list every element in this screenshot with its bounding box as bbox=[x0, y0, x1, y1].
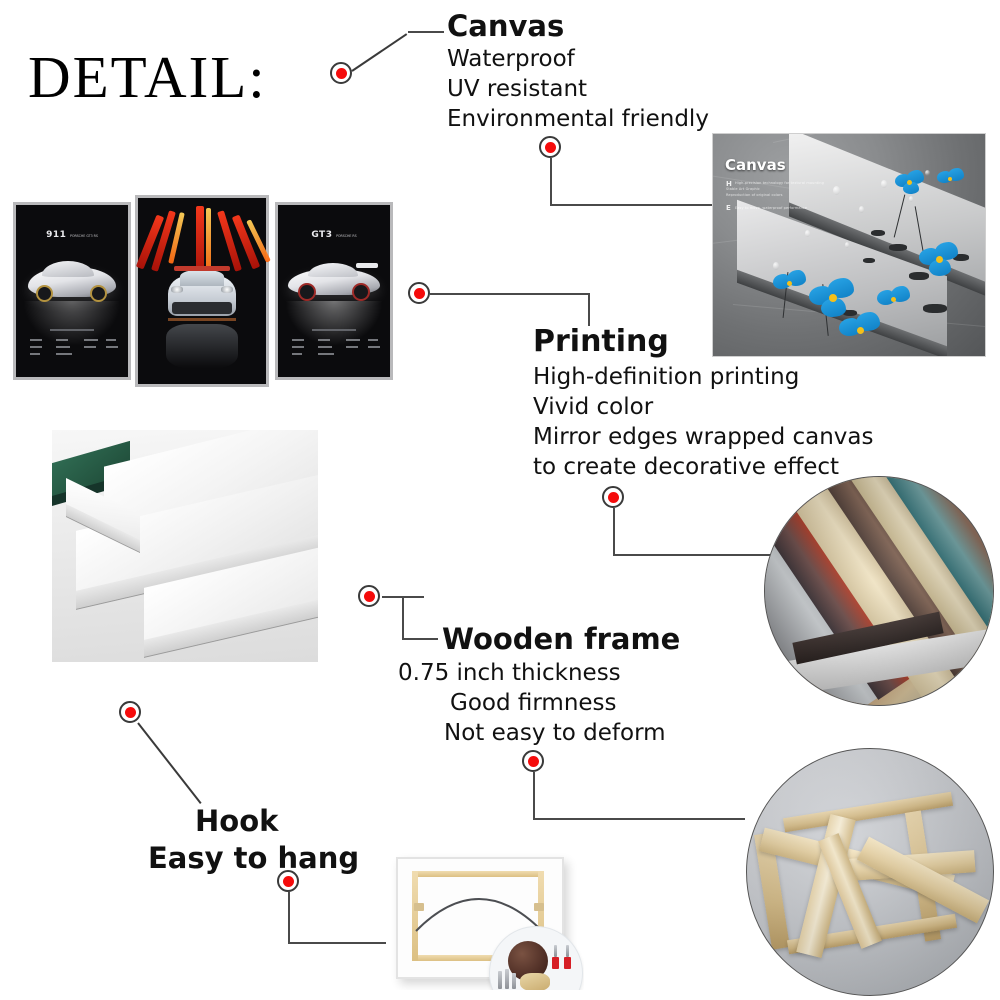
hook-text-block: Hook Easy to hang bbox=[148, 803, 359, 877]
connector-canvasphoto-vertical bbox=[550, 158, 552, 206]
connector-woodphoto-horizontal bbox=[533, 818, 745, 820]
marker-canvas[interactable] bbox=[330, 62, 352, 84]
hook-heading: Hook bbox=[195, 803, 359, 840]
wooden-frame-line-1: 0.75 inch thickness bbox=[398, 658, 680, 688]
connector-canvas-diagonal bbox=[351, 33, 407, 72]
connector-hook-diagonal bbox=[137, 722, 201, 804]
marker-wood-photo[interactable] bbox=[522, 750, 544, 772]
canvas-heading: Canvas bbox=[447, 8, 709, 44]
canvas-text-block: Canvas Waterproof UV resistant Environme… bbox=[447, 8, 709, 134]
poster-panel-3: GT3 PORSCHE RS bbox=[278, 205, 390, 377]
connector-printing-horizontal bbox=[430, 293, 590, 295]
canvas-photo-small-3: Reproduction of original colors bbox=[726, 193, 783, 198]
printing-line-1: High-definition printing bbox=[533, 362, 874, 392]
wooden-frame-text-block: Wooden frame 0.75 inch thickness Good fi… bbox=[398, 620, 680, 748]
printed-canvas-edges-photo bbox=[764, 476, 994, 706]
poster-1-title: 911 bbox=[46, 230, 66, 240]
connector-hookphoto-vertical bbox=[288, 892, 290, 944]
canvas-line-3: Environmental friendly bbox=[447, 104, 709, 134]
poster-panel-1: 911 PORSCHE GT3 RS bbox=[16, 205, 128, 377]
hook-line-1: Easy to hang bbox=[148, 840, 359, 877]
canvas-line-2: UV resistant bbox=[447, 74, 709, 104]
connector-woodphoto-vertical bbox=[533, 772, 535, 820]
connector-hookphoto-horizontal bbox=[288, 942, 388, 944]
canvas-photo-small-1: High-precision technology for textural m… bbox=[735, 181, 824, 186]
marker-hook[interactable] bbox=[119, 701, 141, 723]
hanging-wire-icon bbox=[412, 873, 546, 935]
canvas-photo-small-2: Stable Art Graphic bbox=[726, 187, 760, 192]
connector-printphoto-vertical bbox=[613, 508, 615, 556]
printing-line-2: Vivid color bbox=[533, 392, 874, 422]
wooden-frame-line-2: Good firmness bbox=[450, 688, 680, 718]
poster-panel-2 bbox=[138, 198, 266, 384]
car-poster-triptych: 911 PORSCHE GT3 RS bbox=[16, 198, 392, 384]
printing-line-3: Mirror edges wrapped canvas bbox=[533, 422, 874, 452]
marker-canvas-photo[interactable] bbox=[539, 136, 561, 158]
poster-1-subtitle: PORSCHE GT3 RS bbox=[70, 234, 98, 238]
poster-3-title: GT3 bbox=[311, 230, 332, 240]
wooden-stretcher-bars-photo bbox=[746, 748, 994, 996]
connector-printphoto-horizontal bbox=[613, 554, 773, 556]
connector-canvas-horizontal bbox=[408, 31, 444, 33]
blank-canvas-stack-photo bbox=[52, 430, 318, 662]
canvas-photo-small-4: Easy to move, waterproof performance bbox=[735, 206, 807, 211]
poster-3-subtitle: PORSCHE RS bbox=[336, 234, 357, 238]
wooden-frame-heading: Wooden frame bbox=[442, 620, 680, 658]
marker-wooden[interactable] bbox=[358, 585, 380, 607]
canvas-photo-cap-e: E bbox=[726, 204, 731, 212]
canvas-back-hook-hardware-photo bbox=[386, 845, 584, 990]
detail-infographic: DETAIL: Canvas Waterproof UV resistant E… bbox=[0, 0, 1000, 1000]
marker-print-photo[interactable] bbox=[602, 486, 624, 508]
canvas-photo-label: Canvas bbox=[725, 156, 786, 174]
marker-printing[interactable] bbox=[408, 282, 430, 304]
canvas-line-1: Waterproof bbox=[447, 44, 709, 74]
wooden-frame-line-3: Not easy to deform bbox=[444, 718, 680, 748]
canvas-blue-flowers-photo: Canvas H High-precision technology for t… bbox=[712, 133, 986, 357]
page-title: DETAIL: bbox=[28, 48, 328, 107]
connector-canvasphoto-horizontal bbox=[550, 204, 712, 206]
